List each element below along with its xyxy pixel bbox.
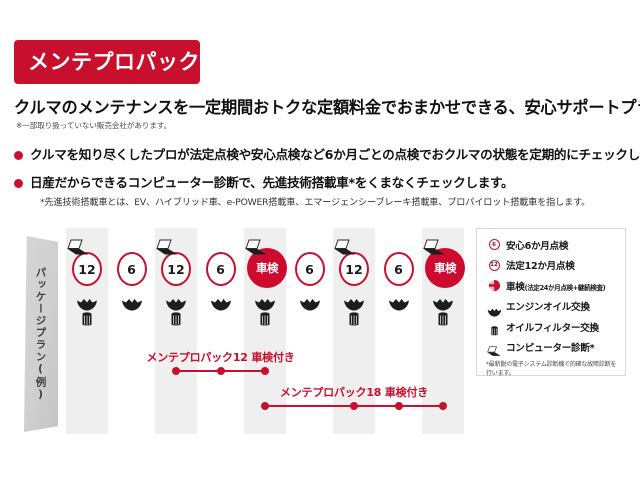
pack-dot — [439, 402, 447, 410]
inspection-badge: 6 — [117, 252, 147, 286]
title-badge: メンテプロパック — [14, 40, 200, 84]
legend-label: エンジンオイル交換 — [506, 299, 590, 313]
legend-item: エンジンオイル交換 — [486, 300, 617, 313]
circle-hollow-6: 6 — [486, 239, 502, 250]
headline-note: ※一部取り扱っていない販売会社があります。 — [16, 120, 171, 131]
legend-sublabel: (法定24か月点検+継続検査) — [525, 284, 606, 292]
timeline-column-1[interactable]: 12 — [66, 228, 108, 434]
legend-badge: 12 — [489, 260, 500, 271]
milestone-node[interactable]: 6 — [381, 248, 417, 288]
milestone-node[interactable]: 車検 — [247, 248, 283, 288]
pack-dot — [261, 402, 269, 410]
headline: クルマのメンテナンスを一定期間おトクな定額料金でおまかせできる、安心サポートプラ… — [14, 94, 628, 118]
engine-oil-icon — [432, 296, 454, 309]
pack-dot — [217, 367, 225, 375]
engine-oil-icon — [210, 296, 232, 309]
legend-label: オイルフィルター交換 — [506, 320, 599, 334]
engine-oil-icon — [254, 296, 276, 309]
circle-hollow-12: 12 — [486, 260, 502, 271]
inspection-badge: 12 — [339, 252, 369, 286]
legend-item: 6安心6か月点検 — [486, 238, 617, 251]
legend-item: 車検車検(法定24か月点検+継続検査) — [486, 279, 617, 292]
title-text: メンテプロパック — [28, 52, 200, 73]
oil-filter-icon — [437, 312, 450, 327]
legend-label: 法定12か月点検 — [506, 258, 575, 272]
bullet-footnote: *先進技術搭載車とは、EV、ハイブリッド車、e-POWER搭載車、エマージェンシ… — [40, 194, 590, 208]
engine-oil-icon — [121, 296, 143, 309]
pack-label: メンテプロパック12 車検付き — [146, 349, 294, 365]
circle-solid: 車検 — [486, 280, 502, 291]
bullet-item-1: クルマを知り尽くしたプロが法定点検や安心点検など6か月ごとの点検でおクルマの状態… — [14, 148, 640, 162]
milestone-node[interactable]: 12 — [158, 248, 194, 288]
legend-panel: 6安心6か月点検12法定12か月点検車検車検(法定24か月点検+継続検査)エンジ… — [476, 228, 626, 376]
milestone-node[interactable]: 6 — [114, 248, 150, 288]
legend-item: コンピューター診断* — [486, 341, 617, 354]
milestone-node[interactable]: 6 — [203, 248, 239, 288]
laptop-icon — [486, 342, 502, 353]
oil-filter-icon — [81, 312, 94, 327]
bullet-text-1: クルマを知り尽くしたプロが法定点検や安心点検など6か月ごとの点検でおクルマの状態… — [30, 148, 640, 162]
inspection-badge: 12 — [72, 252, 102, 286]
legend-label: 安心6か月点検 — [506, 238, 568, 252]
legend-badge: 車検 — [489, 280, 500, 291]
pack-bracket-1[interactable]: メンテプロパック12 車検付き — [176, 346, 265, 376]
milestone-node[interactable]: 6 — [292, 248, 328, 288]
pack-label: メンテプロパック18 車検付き — [280, 384, 428, 400]
computer-diagnosis-icon — [156, 239, 178, 257]
legend-label: コンピューター診断* — [506, 340, 594, 354]
computer-diagnosis-icon — [334, 239, 356, 257]
computer-diagnosis-icon — [245, 239, 267, 257]
bullet-dot-icon — [14, 151, 23, 160]
computer-diagnosis-icon — [67, 239, 89, 257]
inspection-badge: 6 — [295, 252, 325, 286]
engine-oil-icon — [165, 296, 187, 309]
engine-oil-icon — [388, 296, 410, 309]
side-banner: パッケージプラン(例) — [24, 236, 58, 432]
bullet-text-2: 日産だからできるコンピューター診断で、先進技術搭載車*をくまなくチェックします。 — [30, 176, 513, 190]
inspection-badge: 12 — [161, 252, 191, 286]
milestone-node[interactable]: 車検 — [425, 248, 461, 288]
pack-dot — [395, 402, 403, 410]
pack-dot — [261, 367, 269, 375]
oil-filter-icon — [170, 312, 183, 327]
inspection-badge: 6 — [384, 252, 414, 286]
pack-dot — [172, 367, 180, 375]
legend-badge: 6 — [489, 239, 500, 250]
engine-oil-icon — [76, 296, 98, 309]
legend-note: *最新鋭の電子システム診断機で的確な故障診断を行います。 — [486, 361, 617, 378]
bullet-item-2: 日産だからできるコンピューター診断で、先進技術搭載車*をくまなくチェックします。 — [14, 176, 513, 190]
timeline-column-3[interactable]: 12 — [155, 228, 197, 434]
oil-filter-icon — [348, 312, 361, 327]
engine-oil-icon — [343, 296, 365, 309]
side-banner-label: パッケージプラン(例) — [24, 236, 58, 432]
pack-dot — [350, 402, 358, 410]
package-plan-diagram: パッケージプラン(例) 126126車検6126車検 メンテプロパック12 車検… — [14, 228, 626, 438]
milestone-node[interactable]: 12 — [336, 248, 372, 288]
legend-list: 6安心6か月点検12法定12か月点検車検車検(法定24か月点検+継続検査)エンジ… — [486, 238, 617, 354]
engine-oil-icon — [299, 296, 321, 309]
pack-bracket-2[interactable]: メンテプロパック18 車検付き — [265, 381, 443, 411]
computer-diagnosis-icon — [423, 239, 445, 257]
oil-filter-icon — [259, 312, 272, 327]
milestone-node[interactable]: 12 — [69, 248, 105, 288]
legend-item: オイルフィルター交換 — [486, 320, 617, 333]
legend-item: 12法定12か月点検 — [486, 259, 617, 272]
legend-label: 車検(法定24か月点検+継続検査) — [506, 279, 605, 293]
timeline-column-2[interactable]: 6 — [111, 228, 153, 434]
oil-icon — [486, 302, 502, 311]
filter-icon — [486, 321, 502, 332]
bullet-dot-icon — [14, 179, 23, 188]
inspection-badge: 6 — [206, 252, 236, 286]
timeline-column-4[interactable]: 6 — [200, 228, 242, 434]
